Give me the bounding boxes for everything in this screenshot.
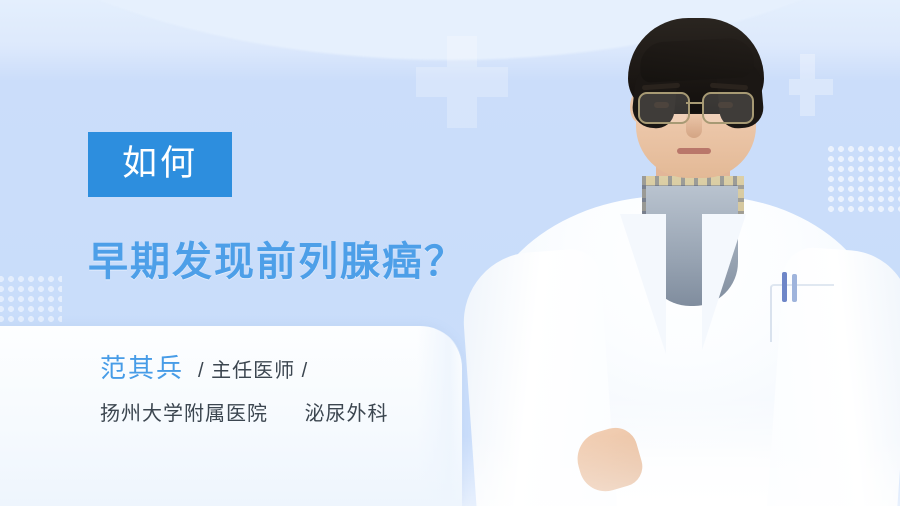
doctor-hospital: 扬州大学附属医院 [100,403,268,425]
doctor-name-row: 范其兵 / 主任医师 / [100,348,389,385]
headline-question: 早期发现前列腺癌？ [88,229,466,287]
pen-icon [782,272,787,302]
pen-icon [792,274,797,302]
doctor-department: 泌尿外科 [305,403,389,425]
poster-canvas: 如何 早期发现前列腺癌？ 范其兵 / 主任医师 / 扬州大学附属医院 泌尿外科 [0,0,900,506]
hair-fringe [639,37,755,83]
coat-lapel-right [702,214,746,350]
coat-lapel-left [620,214,666,354]
dot-grid-pattern [0,274,62,328]
doctor-affiliation-row: 扬州大学附属医院 泌尿外科 [100,397,389,426]
doctor-info-content: 范其兵 / 主任医师 / 扬州大学附属医院 泌尿外科 [100,348,389,426]
doctor-portrait [470,0,900,506]
mouth [677,148,711,154]
doctor-info-card: 范其兵 / 主任医师 / 扬州大学附属医院 泌尿外科 [0,326,462,506]
doctor-title: / 主任医师 / [198,354,308,383]
doctor-name: 范其兵 [100,348,184,385]
headline-badge: 如何 [88,132,232,197]
headline-block: 如何 早期发现前列腺癌？ [88,132,466,287]
chest-pocket [770,284,834,342]
nose [686,112,702,138]
